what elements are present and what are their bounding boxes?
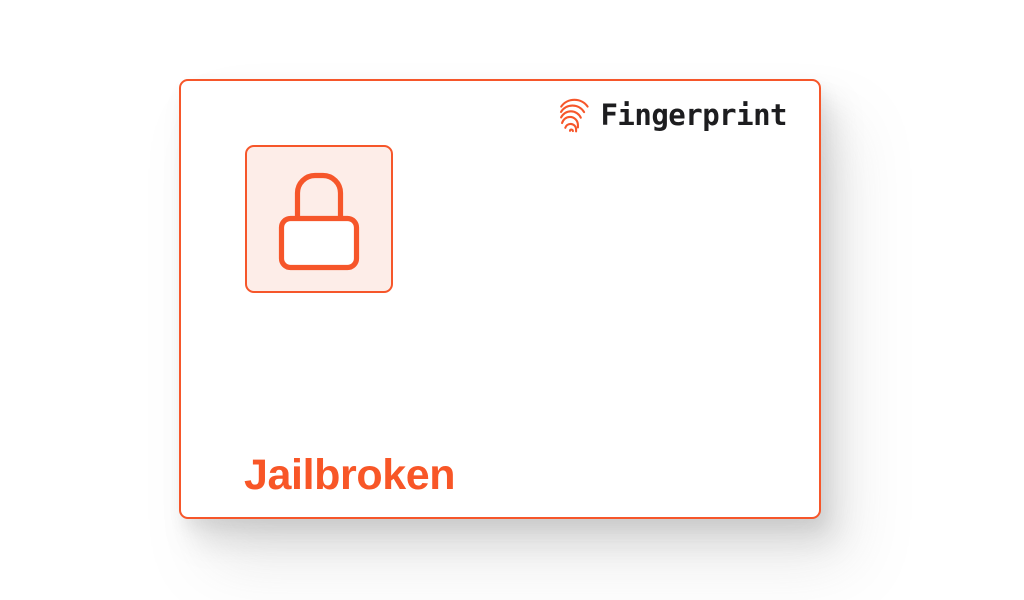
feature-card: Fingerprint Jailbroken device detection (179, 79, 821, 519)
page-title-line-1: Jailbroken (244, 448, 575, 504)
brand-name: Fingerprint (600, 101, 787, 130)
page-title: Jailbroken device detection (244, 336, 575, 600)
feature-icon-tile (245, 145, 393, 293)
fingerprint-icon (558, 98, 591, 133)
brand-lockup: Fingerprint (558, 98, 787, 133)
